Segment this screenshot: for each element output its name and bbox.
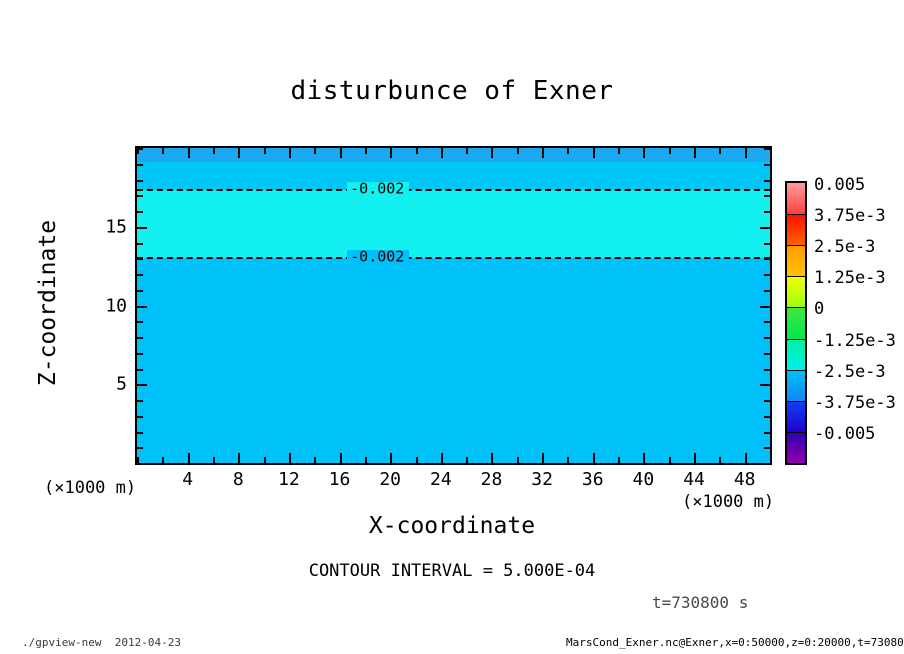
x-tick-minor-top (669, 148, 671, 154)
z-tick-minor-right (764, 195, 770, 197)
z-tick-minor-right (764, 321, 770, 323)
x-tick-major (188, 453, 190, 463)
x-tick-major-top (238, 148, 240, 158)
z-tick-minor (137, 463, 143, 465)
x-tick-minor (770, 457, 772, 463)
field-band (137, 148, 770, 162)
z-tick-minor (137, 290, 143, 292)
x-tick-label: 8 (233, 469, 244, 490)
z-tick-minor-right (764, 353, 770, 355)
z-tick-minor-right (764, 290, 770, 292)
x-tick-label: 28 (481, 469, 503, 490)
z-tick-minor-right (764, 148, 770, 150)
x-tick-major (289, 453, 291, 463)
z-tick-minor (137, 337, 143, 339)
x-tick-minor-top (314, 148, 316, 154)
x-tick-minor (719, 457, 721, 463)
x-tick-major-top (643, 148, 645, 158)
x-tick-major-top (188, 148, 190, 158)
x-unit-right: (×1000 m) (682, 492, 774, 512)
z-tick-minor (137, 321, 143, 323)
z-tick-minor-right (764, 416, 770, 418)
x-tick-minor-top (466, 148, 468, 154)
z-tick-label: 5 (91, 374, 127, 395)
z-tick-major-right (760, 384, 770, 386)
colorbar-tick-label: 0 (814, 299, 824, 319)
z-tick-minor-right (764, 243, 770, 245)
z-tick-minor-right (764, 369, 770, 371)
x-tick-label: 20 (379, 469, 401, 490)
x-tick-major-top (340, 148, 342, 158)
x-tick-minor-top (567, 148, 569, 154)
colorbar-band (787, 432, 805, 463)
x-tick-major (441, 453, 443, 463)
x-tick-label: 36 (582, 469, 604, 490)
x-tick-minor (264, 457, 266, 463)
z-tick-minor (137, 432, 143, 434)
z-tick-minor (137, 243, 143, 245)
z-tick-minor-right (764, 211, 770, 213)
z-tick-minor (137, 211, 143, 213)
colorbar-band (787, 183, 805, 214)
x-tick-major (390, 453, 392, 463)
z-tick-minor (137, 447, 143, 449)
x-tick-major-top (745, 148, 747, 158)
x-tick-label: 44 (683, 469, 705, 490)
colorbar-tick-label: -3.75e-3 (814, 393, 896, 413)
x-tick-major (491, 453, 493, 463)
x-tick-label: 16 (329, 469, 351, 490)
x-tick-minor (365, 457, 367, 463)
x-tick-major (238, 453, 240, 463)
colorbar-band (787, 339, 805, 370)
x-tick-minor (213, 457, 215, 463)
x-tick-minor (618, 457, 620, 463)
x-tick-minor (162, 457, 164, 463)
colorbar-tick-label: -1.25e-3 (814, 331, 896, 351)
colorbar-band (787, 307, 805, 338)
x-tick-minor (314, 457, 316, 463)
colorbar-band (787, 245, 805, 276)
colorbar-tick-label: 0.005 (814, 175, 865, 195)
x-tick-major (694, 453, 696, 463)
z-tick-minor-right (764, 447, 770, 449)
x-tick-label: 12 (278, 469, 300, 490)
x-tick-minor-top (162, 148, 164, 154)
field-band (137, 161, 770, 190)
z-tick-minor (137, 148, 143, 150)
x-tick-minor (517, 457, 519, 463)
colorbar-band (787, 401, 805, 432)
x-tick-minor-top (618, 148, 620, 154)
colorbar-tick-label: 3.75e-3 (814, 206, 886, 226)
x-tick-major (745, 453, 747, 463)
field-band (137, 189, 770, 258)
x-tick-minor-top (416, 148, 418, 154)
time-annotation: t=730800 s (652, 593, 748, 612)
x-tick-label: 40 (633, 469, 655, 490)
x-tick-major-top (542, 148, 544, 158)
z-tick-minor (137, 353, 143, 355)
z-tick-minor (137, 180, 143, 182)
colorbar-tick-label: 2.5e-3 (814, 237, 875, 257)
colorbar-tick-label: -0.005 (814, 424, 875, 444)
x-tick-major-top (441, 148, 443, 158)
z-tick-minor-right (764, 274, 770, 276)
colorbar-band (787, 370, 805, 401)
x-tick-label: 48 (734, 469, 756, 490)
page-title: disturbunce of Exner (0, 76, 904, 106)
z-tick-minor-right (764, 180, 770, 182)
x-tick-minor (466, 457, 468, 463)
z-tick-minor-right (764, 432, 770, 434)
x-axis-title: X-coordinate (0, 513, 904, 539)
colorbar (785, 181, 807, 465)
contour-label: -0.002 (347, 249, 407, 264)
z-tick-minor (137, 400, 143, 402)
x-tick-minor-top (770, 148, 772, 154)
z-tick-major (137, 227, 147, 229)
x-tick-minor (669, 457, 671, 463)
z-tick-minor-right (764, 337, 770, 339)
footer-source: MarsCond_Exner.nc@Exner,x=0:50000,z=0:20… (566, 636, 904, 649)
x-tick-minor-top (365, 148, 367, 154)
z-tick-minor (137, 274, 143, 276)
x-tick-label: 4 (182, 469, 193, 490)
x-unit-left: (×1000 m) (44, 478, 136, 498)
z-tick-minor (137, 416, 143, 418)
contour-line (137, 257, 770, 259)
x-tick-major-top (390, 148, 392, 158)
colorbar-tick-label: 1.25e-3 (814, 268, 886, 288)
x-tick-minor (567, 457, 569, 463)
colorbar-band (787, 214, 805, 245)
x-tick-major-top (694, 148, 696, 158)
z-tick-major (137, 306, 147, 308)
x-tick-major (643, 453, 645, 463)
x-tick-major (542, 453, 544, 463)
x-tick-minor (416, 457, 418, 463)
z-tick-minor-right (764, 463, 770, 465)
contour-label: -0.002 (347, 181, 407, 196)
z-tick-minor-right (764, 164, 770, 166)
field-band (137, 257, 770, 464)
z-tick-major-right (760, 227, 770, 229)
footer-command: ./gpview-new 2012-04-23 (22, 636, 181, 649)
colorbar-tick-label: -2.5e-3 (814, 362, 886, 382)
z-tick-minor-right (764, 258, 770, 260)
z-tick-minor (137, 258, 143, 260)
x-tick-major-top (289, 148, 291, 158)
x-tick-minor-top (213, 148, 215, 154)
z-tick-minor (137, 164, 143, 166)
x-tick-major (340, 453, 342, 463)
x-tick-label: 32 (531, 469, 553, 490)
z-tick-minor (137, 369, 143, 371)
x-tick-minor-top (264, 148, 266, 154)
x-tick-major-top (593, 148, 595, 158)
contour-line (137, 189, 770, 191)
z-tick-minor (137, 195, 143, 197)
x-tick-label: 24 (430, 469, 452, 490)
plot-area: -0.002-0.002 (135, 146, 772, 465)
z-tick-minor-right (764, 400, 770, 402)
x-tick-major-top (491, 148, 493, 158)
z-tick-label: 15 (91, 216, 127, 237)
y-axis-title: Z-coordinate (35, 183, 61, 423)
x-tick-major (593, 453, 595, 463)
x-tick-minor-top (517, 148, 519, 154)
z-tick-major (137, 384, 147, 386)
x-tick-minor-top (719, 148, 721, 154)
z-tick-major-right (760, 306, 770, 308)
colorbar-band (787, 276, 805, 307)
z-tick-label: 10 (91, 295, 127, 316)
contour-interval-annotation: CONTOUR INTERVAL = 5.000E-04 (0, 561, 904, 581)
